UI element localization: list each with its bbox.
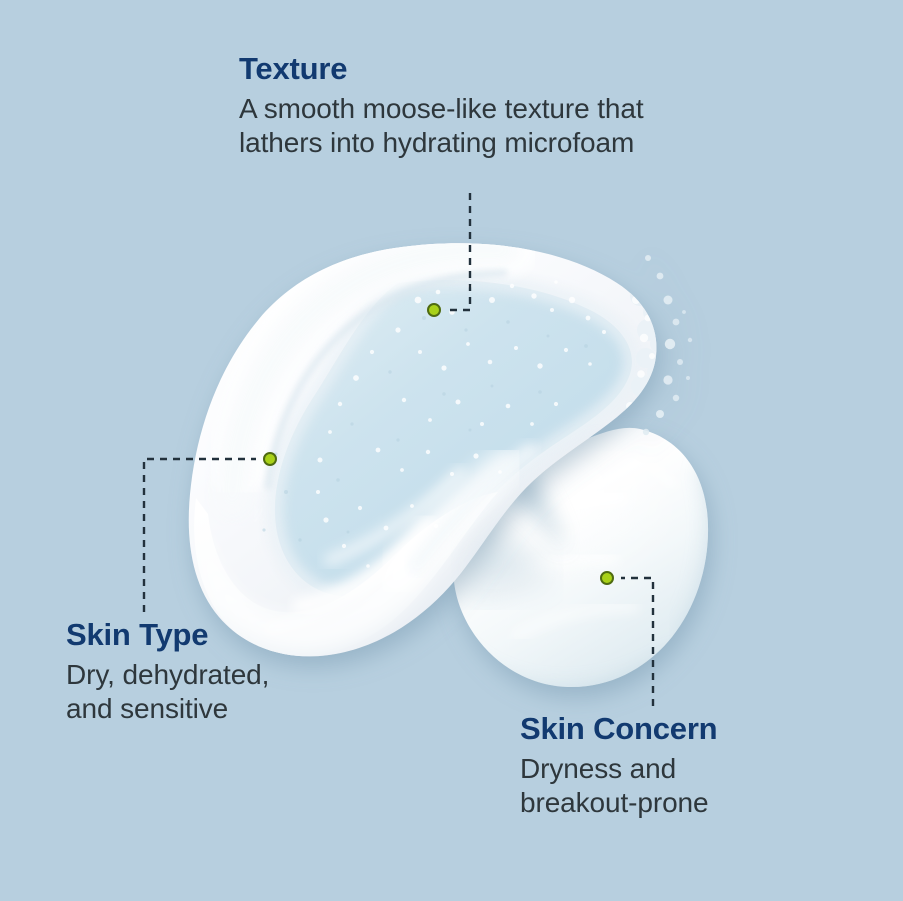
callout-skin-concern-body: Dryness and breakout-prone bbox=[520, 752, 870, 820]
callout-skin-type-title: Skin Type bbox=[66, 618, 396, 653]
callout-texture-body: A smooth moose-like texture that lathers… bbox=[239, 92, 759, 160]
callout-skin-concern-title: Skin Concern bbox=[520, 712, 870, 747]
callout-skin-type: Skin Type Dry, dehydrated, and sensitive bbox=[66, 618, 396, 726]
infographic-canvas: Texture A smooth moose-like texture that… bbox=[0, 0, 903, 901]
callout-dot-texture[interactable] bbox=[427, 303, 441, 317]
leader-line-texture bbox=[448, 193, 470, 310]
callout-texture: Texture A smooth moose-like texture that… bbox=[239, 52, 759, 160]
callout-skin-type-body: Dry, dehydrated, and sensitive bbox=[66, 658, 396, 726]
leader-line-skin-concern bbox=[621, 578, 653, 706]
large-foam-swatch bbox=[189, 243, 692, 656]
callout-dot-skin-type[interactable] bbox=[263, 452, 277, 466]
leader-line-skin-type bbox=[144, 459, 256, 612]
callout-skin-concern: Skin Concern Dryness and breakout-prone bbox=[520, 712, 870, 820]
small-cream-blob bbox=[430, 392, 740, 720]
callout-texture-title: Texture bbox=[239, 52, 759, 87]
callout-dot-skin-concern[interactable] bbox=[600, 571, 614, 585]
foam-spray-edge bbox=[643, 255, 692, 435]
